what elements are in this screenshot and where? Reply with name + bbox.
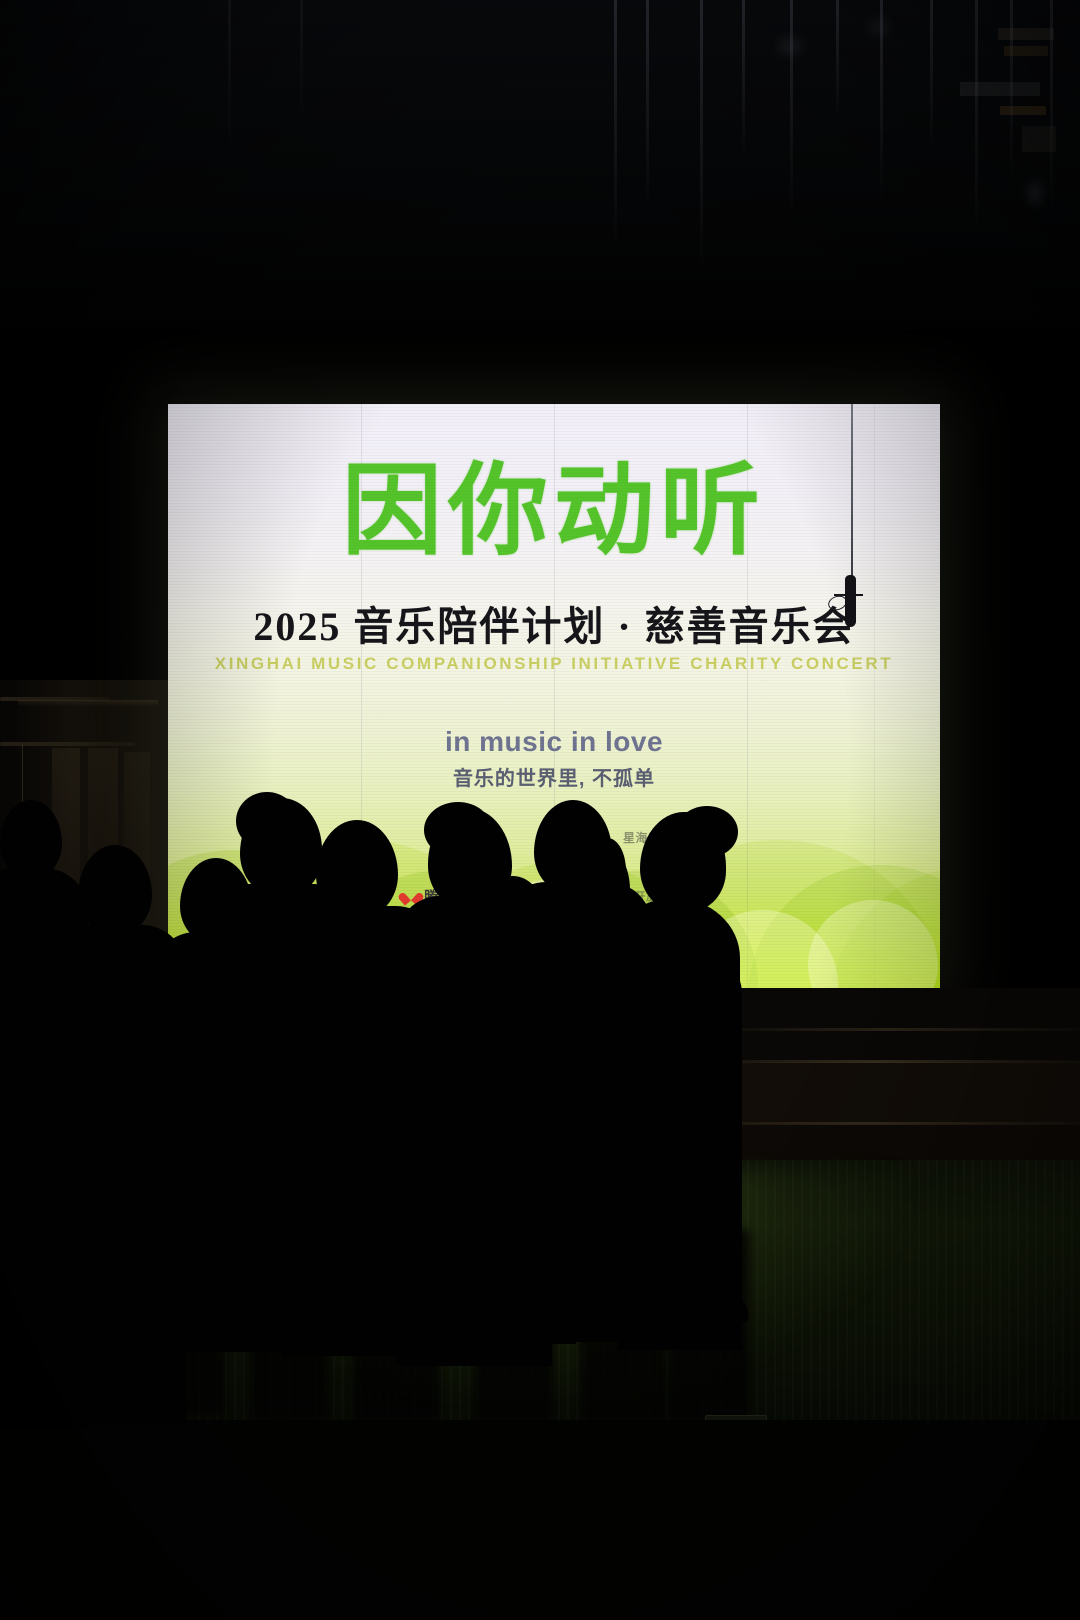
performer-silhouette (0, 800, 62, 878)
hanging-microphone (845, 575, 856, 627)
performer-shoe (300, 1312, 366, 1334)
screen-slogan-cn: 音乐的世界里, 不孤单 (168, 762, 940, 791)
screen-subtitle-en: XINGHAI MUSIC COMPANIONSHIP INITIATIVE C… (168, 654, 940, 674)
performer-silhouette (552, 838, 630, 930)
performer-hand (412, 922, 456, 948)
performer-shoe (696, 1300, 748, 1322)
performer-silhouette (78, 845, 152, 935)
performers-lower-mass (510, 1140, 740, 1318)
handrail (0, 697, 110, 701)
performer-shoe (540, 1270, 592, 1290)
screen-subtitle-cn: 2025 音乐陪伴计划 · 慈善音乐会 (168, 594, 940, 652)
performer-shoe (24, 1300, 86, 1322)
performer-silhouette (316, 820, 398, 918)
performer-shoe (410, 1294, 472, 1316)
auditorium-ceiling (0, 0, 1080, 330)
performer-shoe (236, 1300, 294, 1320)
performer-hand (588, 980, 640, 1010)
microphone-cable (851, 404, 853, 580)
stage-scene: 因你动听 2025 音乐陪伴计划 · 慈善音乐会 XINGHAI MUSIC C… (0, 0, 1080, 1620)
stage-riser-1 (700, 988, 1080, 1062)
performer-shoe (452, 1318, 522, 1342)
performer-shoe (634, 1294, 702, 1318)
stage-apron (0, 1420, 1080, 1620)
screen-slogan-en: in music in love (168, 726, 940, 758)
handrail-lower (0, 742, 135, 746)
screen-main-title: 因你动听 (168, 460, 940, 562)
performer-shoe (172, 1310, 236, 1332)
